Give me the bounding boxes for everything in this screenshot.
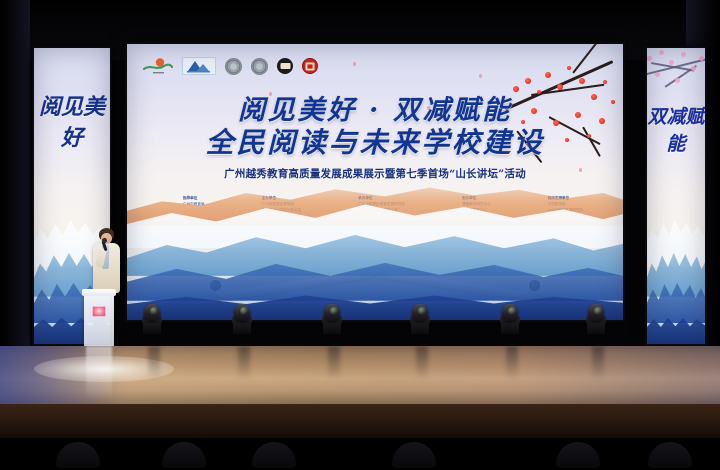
sponsor-logo-row	[143, 57, 318, 75]
event-title-line-1: 阅见美好 · 双减赋能	[127, 96, 623, 126]
logo-black-circle-icon	[277, 58, 293, 74]
logo-gray-seal-1-icon	[225, 58, 242, 75]
audience-seat	[252, 442, 296, 468]
right-panel-vertical-text: 双减赋能	[647, 104, 705, 158]
audience-area	[0, 438, 720, 470]
podium-emblem	[92, 306, 106, 317]
moving-head-stage-light	[500, 304, 520, 334]
moving-head-stage-light	[586, 304, 606, 334]
floor-reflection	[238, 346, 250, 380]
floor-reflection	[592, 346, 604, 380]
podium-reflection	[86, 346, 112, 400]
event-title-line-2: 全民阅读与未来学校建设	[127, 127, 623, 159]
floor-reflection	[328, 346, 340, 380]
logo-red-circle-icon	[302, 58, 318, 74]
title-block: 阅见美好 · 双减赋能 全民阅读与未来学校建设 广州越秀教育高质量发展成果展示暨…	[127, 96, 623, 181]
audience-seat	[648, 442, 692, 468]
audience-seat	[56, 442, 100, 468]
stage-curtain-left	[0, 0, 30, 400]
left-panel-vertical-text: 阅见美好	[34, 92, 110, 154]
stage-floor	[0, 346, 720, 406]
main-led-screen: 阅见美好 · 双减赋能 全民阅读与未来学校建设 广州越秀教育高质量发展成果展示暨…	[125, 42, 625, 322]
logo-gray-seal-2-icon	[251, 58, 268, 75]
moving-head-stage-light	[410, 304, 430, 334]
logo-blue-mountain-icon	[182, 57, 216, 75]
moving-head-stage-light	[142, 304, 162, 334]
logo-sun-swoosh-icon	[143, 57, 173, 75]
floor-reflection	[148, 346, 160, 380]
moving-head-stage-light	[232, 304, 252, 334]
audience-seat	[162, 442, 206, 468]
moving-head-stage-light	[322, 304, 342, 334]
audience-seat	[556, 442, 600, 468]
organizer-label: 指导单位	[183, 196, 205, 201]
floor-reflection	[506, 346, 518, 380]
right-led-panel: 双减赋能	[645, 46, 707, 346]
event-subtitle: 广州越秀教育高质量发展成果展示暨第七季首场“山长讲坛”活动	[127, 166, 623, 181]
floor-reflection	[416, 346, 428, 380]
stage-front-edge	[0, 404, 720, 438]
audience-seat	[392, 442, 436, 468]
stage-scene: 阅见美好	[0, 0, 720, 470]
